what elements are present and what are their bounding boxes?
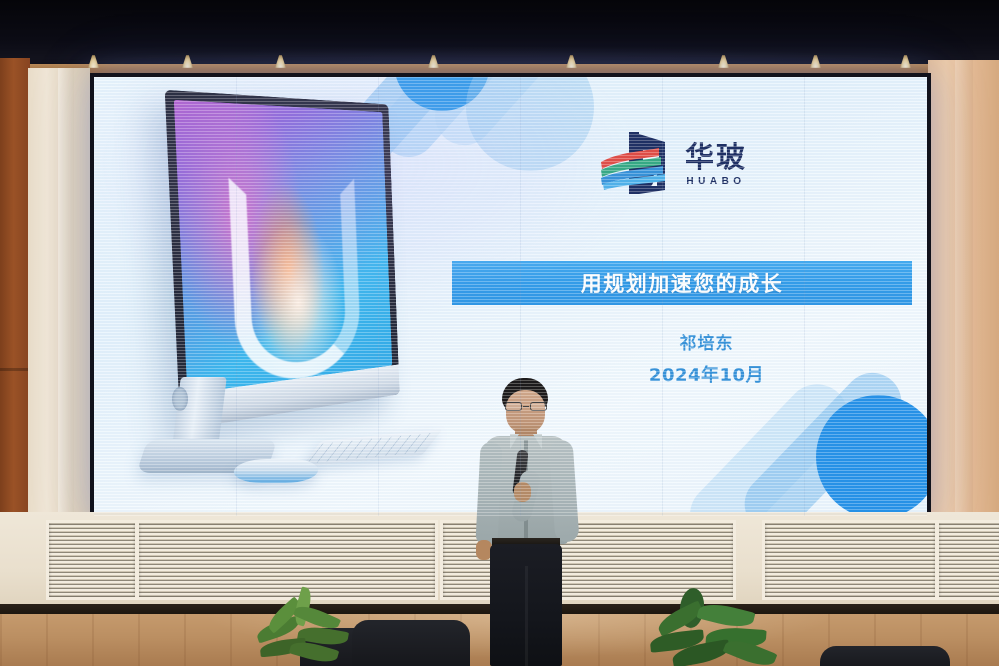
left-column-seam bbox=[58, 68, 74, 568]
presenter-person bbox=[470, 378, 582, 666]
mouse-icon bbox=[231, 459, 320, 483]
glasses-icon bbox=[504, 402, 548, 411]
panel-seam bbox=[520, 77, 521, 516]
chair bbox=[820, 646, 950, 666]
panel-seam bbox=[378, 77, 379, 516]
imac-stand-cutout bbox=[172, 387, 188, 411]
air-vent-panel bbox=[46, 520, 138, 600]
right-hand bbox=[514, 482, 531, 502]
decor-circle-top-soft bbox=[466, 77, 594, 171]
potted-plant bbox=[650, 588, 800, 666]
air-vent-panel bbox=[136, 520, 438, 600]
slide-title-band: 用规划加速您的成长 bbox=[452, 261, 912, 305]
imac-illustration bbox=[124, 87, 454, 487]
potted-plant bbox=[250, 600, 370, 666]
imac-wallpaper bbox=[174, 100, 392, 394]
brand-wordmark: 华玻 HUABO bbox=[685, 143, 747, 187]
huabo-logo-mark bbox=[599, 128, 677, 202]
presentation-date: 2024年10月 bbox=[599, 361, 814, 387]
trousers bbox=[490, 544, 562, 666]
presenter-name: 祁培东 bbox=[599, 329, 814, 354]
panel-seam bbox=[236, 77, 237, 516]
brand-logo: 华玻 HUABO bbox=[599, 125, 814, 205]
panel-seam bbox=[662, 77, 663, 516]
air-vent-panel bbox=[936, 520, 999, 600]
leaf bbox=[697, 600, 756, 632]
keyboard-icon bbox=[301, 429, 443, 467]
presentation-photo: 华玻 HUABO 用规划加速您的成长 祁培东 2024年10月 bbox=[0, 0, 999, 666]
slide-byline: 祁培东 2024年10月 bbox=[599, 329, 814, 387]
slide-title: 用规划加速您的成长 bbox=[581, 268, 784, 298]
panel-seam bbox=[804, 77, 805, 516]
decor-circle-bottom bbox=[816, 395, 927, 516]
brand-name-cn: 华玻 bbox=[685, 143, 747, 172]
logo-svg bbox=[599, 128, 677, 202]
brand-name-en: HUABO bbox=[686, 177, 745, 187]
imac-wallpaper-swoosh bbox=[229, 177, 362, 386]
shirt-collar bbox=[510, 434, 542, 450]
